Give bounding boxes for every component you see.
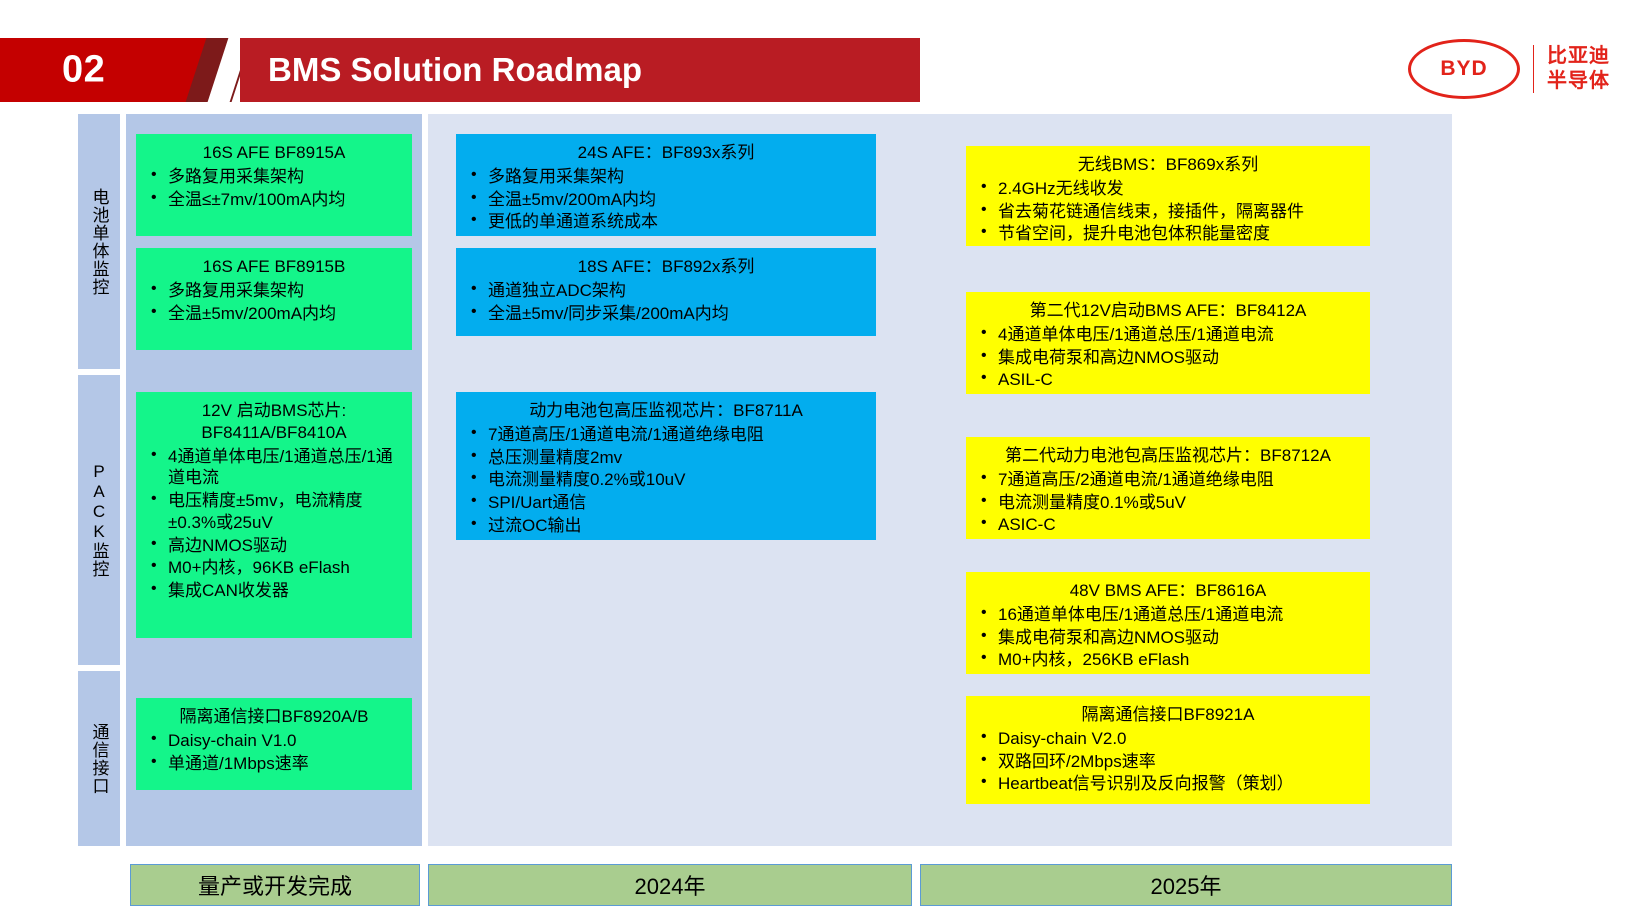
card-bullet: 集成电荷泵和高边NMOS驱动 [976,347,1360,369]
card-bullet-list: 16通道单体电压/1通道总压/1通道电流 集成电荷泵和高边NMOS驱动 M0+内… [976,604,1360,671]
card-bullet: 电流测量精度0.2%或10uV [466,469,866,491]
card-bullet: 多路复用采集架构 [146,166,402,188]
category-strip-comm-interface: 通信接口 [78,671,120,846]
product-card[interactable]: 第二代12V启动BMS AFE：BF8412A 4通道单体电压/1通道总压/1通… [966,292,1370,394]
card-title: 12V 启动BMS芯片: BF8411A/BF8410A [146,400,402,444]
card-bullet: M0+内核，96KB eFlash [146,557,402,579]
slide-header: 02 BMS Solution Roadmap [0,38,920,102]
card-bullet-list: 7通道高压/2通道电流/1通道绝缘电阻 电流测量精度0.1%或5uV ASIC-… [976,469,1360,536]
product-card[interactable]: 16S AFE BF8915B 多路复用采集架构 全温±5mv/200mA内均 [136,248,412,350]
timeline-bar-2025[interactable]: 2025年 [920,864,1452,906]
card-bullet: SPI/Uart通信 [466,492,866,514]
card-bullet-list: 4通道单体电压/1通道总压/1通道电流 电压精度±5mv，电流精度±0.3%或2… [146,446,402,602]
product-card[interactable]: 隔离通信接口BF8920A/B Daisy-chain V1.0 单通道/1Mb… [136,698,412,790]
card-bullet: 省去菊花链通信线束，接插件，隔离器件 [976,201,1360,223]
card-bullet: 电压精度±5mv，电流精度±0.3%或25uV [146,490,402,534]
page-title: BMS Solution Roadmap [268,51,642,89]
product-card[interactable]: 24S AFE：BF893x系列 多路复用采集架构 全温±5mv/200mA内均… [456,134,876,236]
card-bullet: 全温±5mv/同步采集/200mA内均 [466,303,866,325]
product-card[interactable]: 16S AFE BF8915A 多路复用采集架构 全温≤±7mv/100mA内均 [136,134,412,236]
card-title: 隔离通信接口BF8921A [976,704,1360,726]
product-card[interactable]: 隔离通信接口BF8921A Daisy-chain V2.0 双路回环/2Mbp… [966,696,1370,804]
card-bullet: ASIC-C [976,514,1360,536]
card-bullet: 集成电荷泵和高边NMOS驱动 [976,627,1360,649]
card-bullet: ASIL-C [976,369,1360,391]
card-title: 隔离通信接口BF8920A/B [146,706,402,728]
card-bullet: 双路回环/2Mbps速率 [976,751,1360,773]
card-bullet: Heartbeat信号识别及反向报警（策划） [976,773,1360,795]
card-bullet-list: 2.4GHz无线收发 省去菊花链通信线束，接插件，隔离器件 节省空间，提升电池包… [976,178,1360,245]
timeline-label: 2025年 [1151,869,1222,901]
card-bullet: M0+内核，256KB eFlash [976,649,1360,671]
timeline-label: 2024年 [635,869,706,901]
card-bullet-list: 4通道单体电压/1通道总压/1通道电流 集成电荷泵和高边NMOS驱动 ASIL-… [976,324,1360,391]
card-bullet: 集成CAN收发器 [146,580,402,602]
card-bullet-list: 7通道高压/1通道电流/1通道绝缘电阻 总压测量精度2mv 电流测量精度0.2%… [466,424,866,537]
product-card[interactable]: 18S AFE：BF892x系列 通道独立ADC架构 全温±5mv/同步采集/2… [456,248,876,336]
timeline-bar-current[interactable]: 量产或开发完成 [130,864,420,906]
product-card[interactable]: 12V 启动BMS芯片: BF8411A/BF8410A 4通道单体电压/1通道… [136,392,412,638]
card-bullet: 7通道高压/1通道电流/1通道绝缘电阻 [466,424,866,446]
card-bullet: 多路复用采集架构 [146,280,402,302]
card-bullet: 通道独立ADC架构 [466,280,866,302]
card-title: 24S AFE：BF893x系列 [466,142,866,164]
card-bullet: 4通道单体电压/1通道总压/1通道电流 [976,324,1360,346]
card-title: 16S AFE BF8915A [146,142,402,164]
card-bullet: 更低的单通道系统成本 [466,211,866,233]
category-label: 电池单体监控 [87,188,112,296]
card-bullet: 7通道高压/2通道电流/1通道绝缘电阻 [976,469,1360,491]
card-bullet: Daisy-chain V2.0 [976,728,1360,750]
card-title: 第二代12V启动BMS AFE：BF8412A [976,300,1360,322]
card-title: 动力电池包高压监视芯片：BF8711A [466,400,866,422]
card-bullet: 多路复用采集架构 [466,166,866,188]
card-title: 第二代动力电池包高压监视芯片：BF8712A [976,445,1360,467]
byd-logo: BYD 比亚迪 半导体 [1408,38,1610,100]
product-card[interactable]: 48V BMS AFE：BF8616A 16通道单体电压/1通道总压/1通道电流… [966,572,1370,674]
card-bullet-list: 通道独立ADC架构 全温±5mv/同步采集/200mA内均 [466,280,866,325]
card-bullet: 4通道单体电压/1通道总压/1通道电流 [146,446,402,490]
card-bullet: 电流测量精度0.1%或5uV [976,492,1360,514]
card-title: 16S AFE BF8915B [146,256,402,278]
card-bullet-list: Daisy-chain V2.0 双路回环/2Mbps速率 Heartbeat信… [976,728,1360,795]
card-bullet: 全温≤±7mv/100mA内均 [146,189,402,211]
brand-line-1: 比亚迪 [1547,44,1610,69]
card-bullet: 单通道/1Mbps速率 [146,753,402,775]
product-card[interactable]: 动力电池包高压监视芯片：BF8711A 7通道高压/1通道电流/1通道绝缘电阻 … [456,392,876,540]
byd-mark-icon: BYD [1408,39,1520,99]
brand-chinese-name: 比亚迪 半导体 [1547,44,1610,94]
card-bullet: 总压测量精度2mv [466,447,866,469]
card-bullet-list: 多路复用采集架构 全温±5mv/200mA内均 更低的单通道系统成本 [466,166,866,233]
header-title-block: BMS Solution Roadmap [240,38,920,102]
product-card[interactable]: 第二代动力电池包高压监视芯片：BF8712A 7通道高压/2通道电流/1通道绝缘… [966,437,1370,539]
card-title: 18S AFE：BF892x系列 [466,256,866,278]
card-bullet-list: 多路复用采集架构 全温±5mv/200mA内均 [146,280,402,325]
card-bullet: 全温±5mv/200mA内均 [146,303,402,325]
timeline-bar-2024[interactable]: 2024年 [428,864,912,906]
category-label: PACK监控 [87,462,112,578]
card-bullet: 16通道单体电压/1通道总压/1通道电流 [976,604,1360,626]
card-title: 48V BMS AFE：BF8616A [976,580,1360,602]
section-number: 02 [62,49,105,92]
card-title: 无线BMS：BF869x系列 [976,154,1360,176]
card-bullet: 全温±5mv/200mA内均 [466,189,866,211]
card-bullet-list: Daisy-chain V1.0 单通道/1Mbps速率 [146,730,402,775]
card-bullet: 2.4GHz无线收发 [976,178,1360,200]
category-label: 通信接口 [87,723,112,795]
card-bullet: 高边NMOS驱动 [146,535,402,557]
card-bullet: 过流OC输出 [466,515,866,537]
brand-divider [1533,45,1534,93]
timeline-label: 量产或开发完成 [198,869,352,901]
product-card[interactable]: 无线BMS：BF869x系列 2.4GHz无线收发 省去菊花链通信线束，接插件，… [966,146,1370,246]
card-bullet: Daisy-chain V1.0 [146,730,402,752]
category-strip-pack-monitoring: PACK监控 [78,375,120,665]
card-bullet-list: 多路复用采集架构 全温≤±7mv/100mA内均 [146,166,402,211]
brand-line-2: 半导体 [1547,69,1610,94]
card-bullet: 节省空间，提升电池包体积能量密度 [976,223,1360,245]
category-strip-cell-monitoring: 电池单体监控 [78,114,120,369]
